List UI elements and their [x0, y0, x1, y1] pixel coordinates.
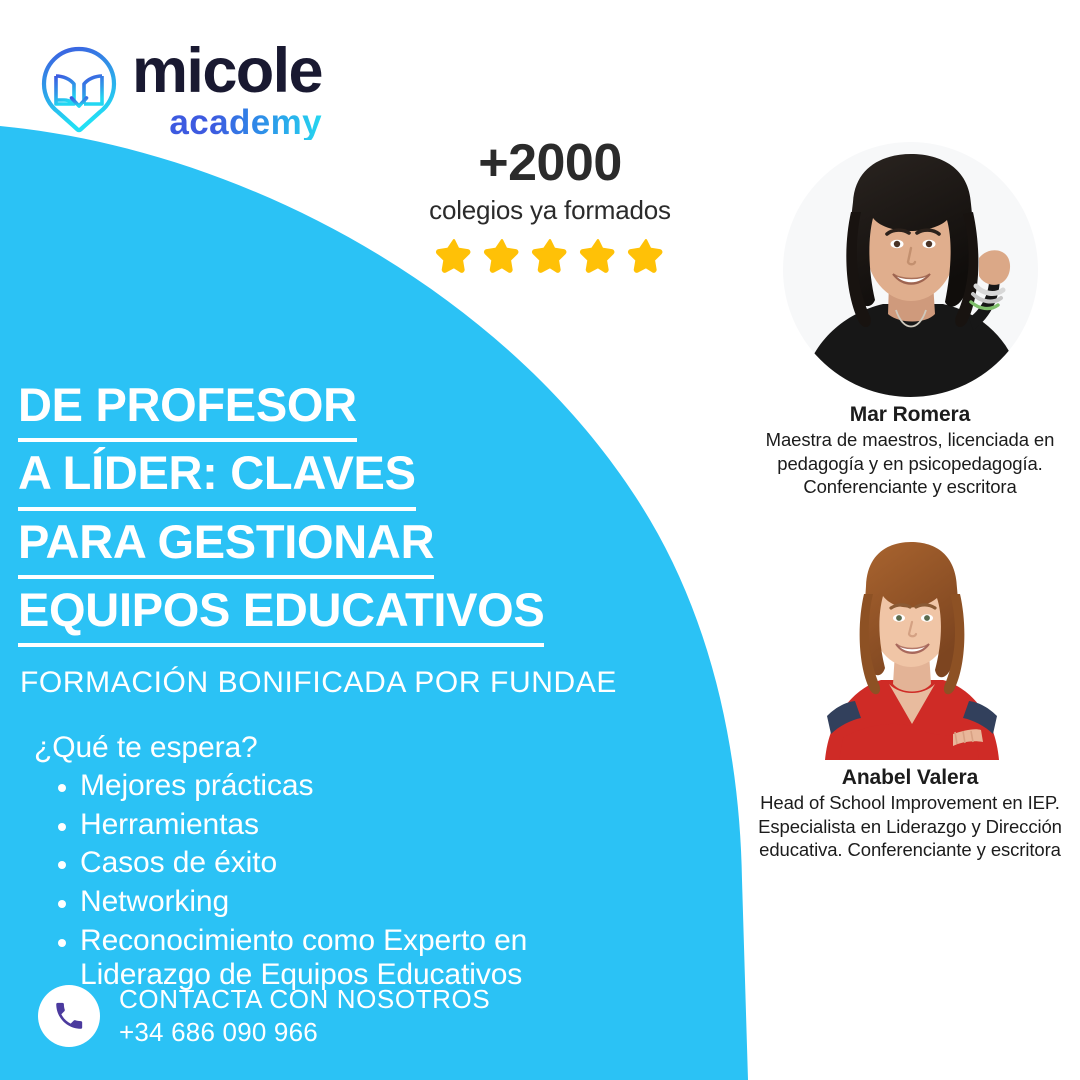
promo-poster: micole academy +2000 colegios ya formado… [0, 0, 1080, 1080]
contact-text: CONTACTA CON NOSOTROS +34 686 090 966 [119, 983, 490, 1050]
star-icon [627, 237, 665, 275]
stats-caption: colegios ya formados [392, 195, 708, 226]
brand-name-secondary: academy [169, 105, 322, 140]
what-to-expect-list: Mejores prácticasHerramientasCasos de éx… [34, 769, 634, 993]
list-item: Casos de éxito [34, 846, 634, 881]
what-to-expect-section: ¿Qué te espera? Mejores prácticasHerrami… [34, 731, 634, 993]
speaker-bio: Maestra de maestros, licenciada en pedag… [745, 428, 1075, 499]
brand-wordmark: micole academy [132, 40, 322, 140]
contact-label: CONTACTA CON NOSOTROS [119, 983, 490, 1016]
speaker-bio: Head of School Improvement en IEP. Espec… [745, 791, 1075, 862]
page-title-line: PARA GESTIONAR [18, 511, 658, 579]
speaker-name: Mar Romera [745, 403, 1075, 427]
social-proof-stats: +2000 colegios ya formados [392, 136, 708, 275]
portrait-mar-romera [783, 142, 1038, 397]
stats-number: +2000 [392, 136, 708, 191]
list-item: Herramientas [34, 808, 634, 843]
subtitle: FORMACIÓN BONIFICADA POR FUNDAE [20, 666, 617, 700]
portrait-anabel-valera [803, 528, 1018, 760]
speaker-card-1: Mar Romera Maestra de maestros, licencia… [745, 142, 1075, 499]
star-rating [392, 237, 708, 275]
what-to-expect-title: ¿Qué te espera? [34, 731, 634, 765]
page-title-line: A LÍDER: CLAVES [18, 442, 658, 510]
star-icon [579, 237, 617, 275]
page-title-line: DE PROFESOR [18, 374, 658, 442]
avatar [803, 528, 1018, 760]
avatar [783, 142, 1038, 397]
star-icon [483, 237, 521, 275]
list-item: Mejores prácticas [34, 769, 634, 804]
list-item: Networking [34, 885, 634, 920]
phone-icon [52, 999, 86, 1033]
star-icon [435, 237, 473, 275]
page-title: DE PROFESORA LÍDER: CLAVES PARA GESTIONA… [18, 374, 658, 647]
location-pin-book-download-icon [36, 43, 122, 137]
contact-phone-number: +34 686 090 966 [119, 1016, 490, 1049]
brand-logo[interactable]: micole academy [36, 40, 322, 140]
brand-name-primary: micole [132, 40, 322, 103]
phone-icon-circle [38, 985, 100, 1047]
contact-block[interactable]: CONTACTA CON NOSOTROS +34 686 090 966 [38, 983, 490, 1050]
speaker-card-2: Anabel Valera Head of School Improvement… [745, 528, 1075, 862]
star-icon [531, 237, 569, 275]
page-title-line: EQUIPOS EDUCATIVOS [18, 579, 658, 647]
speaker-name: Anabel Valera [745, 766, 1075, 790]
